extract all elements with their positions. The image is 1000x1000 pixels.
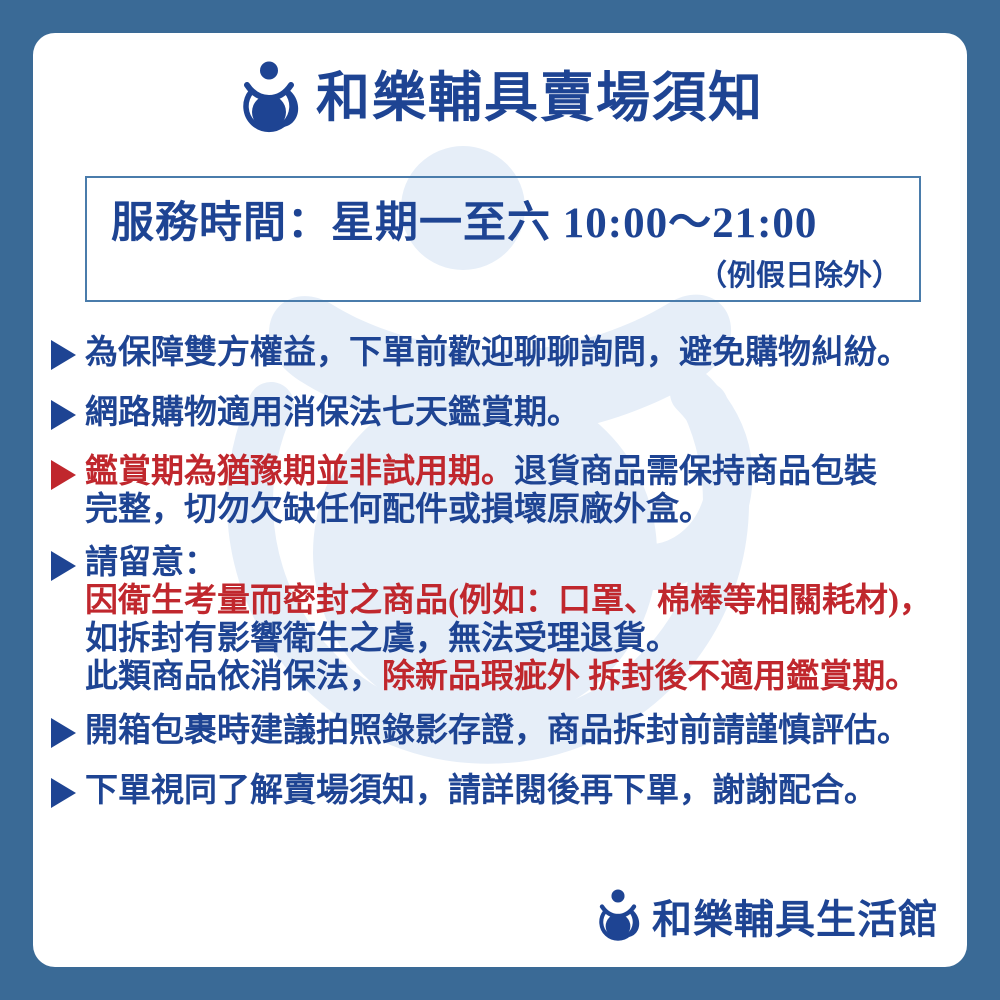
- notice-text: 下單視同了解賣場須知，請詳閱後再下單，謝謝配合。: [85, 771, 967, 811]
- poster-card: 和樂輔具賣場須知 服務時間：星期一至六 10:00～21:00 （例假日除外） …: [33, 33, 967, 967]
- notice-text-line: 下單視同了解賣場須知，請詳閱後再下單，謝謝配合。: [85, 771, 967, 811]
- brand-name: 和樂輔具生活館: [652, 887, 939, 945]
- notice-text-segment: 退貨商品需保持商品包裝: [514, 454, 877, 490]
- notice-text-segment: 網路購物適用消保法七天鑑賞期。: [85, 395, 580, 431]
- notice-text-line: 請留意：: [85, 544, 967, 582]
- notice-text-segment: 鑑賞期為猶豫期並非試用期。: [85, 454, 514, 490]
- notice-text-line: 因衛生考量而密封之商品(例如：口罩、棉棒等相關耗材)，: [85, 582, 967, 620]
- triangle-right-icon: [51, 400, 76, 430]
- wheelchair-accessibility-icon: [594, 889, 642, 943]
- triangle-right-icon: [51, 778, 76, 808]
- notice-text-segment: 下單視同了解賣場須知，請詳閱後再下單，謝謝配合。: [85, 773, 877, 809]
- bullet-marker: [41, 771, 85, 813]
- bullet-marker: [41, 393, 85, 435]
- notice-text: 網路購物適用消保法七天鑑賞期。: [85, 393, 967, 433]
- triangle-right-icon: [51, 718, 76, 748]
- notice-item: 下單視同了解賣場須知，請詳閱後再下單，謝謝配合。: [41, 771, 967, 813]
- page-footer: 和樂輔具生活館: [594, 887, 939, 945]
- notice-text-segment: 請留意：: [85, 545, 217, 581]
- notice-text-segment: 如拆封有影響衛生之虞，無法受理退貨。: [85, 621, 679, 657]
- notice-text-line: 網路購物適用消保法七天鑑賞期。: [85, 393, 967, 433]
- bullet-marker: [41, 333, 85, 375]
- notice-item: 鑑賞期為猶豫期並非試用期。退貨商品需保持商品包裝完整，切勿欠缺任何配件或損壞原廠…: [41, 453, 967, 530]
- notice-text-segment: 為保障雙方權益，下單前歡迎聊聊詢問，避免購物糾紛。: [85, 335, 910, 371]
- notice-text-segment: 開箱包裹時建議拍照錄影存證，商品拆封前請謹慎評估。: [85, 713, 910, 749]
- service-hours-text: 服務時間：星期一至六 10:00～21:00: [111, 188, 817, 250]
- bullet-marker: [41, 544, 85, 586]
- service-hours-box: 服務時間：星期一至六 10:00～21:00 （例假日除外）: [85, 176, 921, 302]
- notice-text-segment: 完整，切勿欠缺任何配件或損壞原廠外盒。: [85, 492, 712, 528]
- notice-text: 鑑賞期為猶豫期並非試用期。退貨商品需保持商品包裝完整，切勿欠缺任何配件或損壞原廠…: [85, 453, 967, 530]
- notice-text-line: 如拆封有影響衛生之虞，無法受理退貨。: [85, 620, 967, 658]
- notice-item: 開箱包裹時建議拍照錄影存證，商品拆封前請謹慎評估。: [41, 711, 967, 753]
- notice-text-segment: 除新品瑕疵外 拆封後不適用鑑賞期。: [382, 659, 918, 695]
- notice-list: 為保障雙方權益，下單前歡迎聊聊詢問，避免購物糾紛。網路購物適用消保法七天鑑賞期。…: [41, 333, 967, 831]
- notice-text-segment: 因衛生考量而密封之商品(例如：口罩、棉棒等相關耗材)，: [85, 583, 932, 619]
- notice-item: 請留意：因衛生考量而密封之商品(例如：口罩、棉棒等相關耗材)，如拆封有影響衛生之…: [41, 544, 967, 697]
- page-title: 和樂輔具賣場須知: [316, 71, 764, 125]
- service-hours-note: （例假日除外）: [698, 252, 901, 294]
- notice-item: 網路購物適用消保法七天鑑賞期。: [41, 393, 967, 435]
- notice-text: 請留意：因衛生考量而密封之商品(例如：口罩、棉棒等相關耗材)，如拆封有影響衛生之…: [85, 544, 967, 697]
- notice-text-line: 此類商品依消保法，除新品瑕疵外 拆封後不適用鑑賞期。: [85, 658, 967, 696]
- poster-frame: 和樂輔具賣場須知 服務時間：星期一至六 10:00～21:00 （例假日除外） …: [0, 0, 1000, 1000]
- notice-text: 為保障雙方權益，下單前歡迎聊聊詢問，避免購物糾紛。: [85, 333, 967, 373]
- notice-text-segment: 此類商品依消保法，: [85, 659, 382, 695]
- bullet-marker: [41, 711, 85, 753]
- page-header: 和樂輔具賣場須知: [33, 61, 967, 135]
- notice-text-line: 完整，切勿欠缺任何配件或損壞原廠外盒。: [85, 491, 967, 529]
- notice-text: 開箱包裹時建議拍照錄影存證，商品拆封前請謹慎評估。: [85, 711, 967, 751]
- bullet-marker: [41, 453, 85, 495]
- notice-item: 為保障雙方權益，下單前歡迎聊聊詢問，避免購物糾紛。: [41, 333, 967, 375]
- triangle-right-icon: [51, 551, 76, 581]
- notice-text-line: 為保障雙方權益，下單前歡迎聊聊詢問，避免購物糾紛。: [85, 333, 967, 373]
- wheelchair-accessibility-icon: [236, 61, 302, 135]
- triangle-right-icon: [51, 460, 76, 490]
- notice-text-line: 開箱包裹時建議拍照錄影存證，商品拆封前請謹慎評估。: [85, 711, 967, 751]
- triangle-right-icon: [51, 340, 76, 370]
- notice-text-line: 鑑賞期為猶豫期並非試用期。退貨商品需保持商品包裝: [85, 453, 967, 491]
